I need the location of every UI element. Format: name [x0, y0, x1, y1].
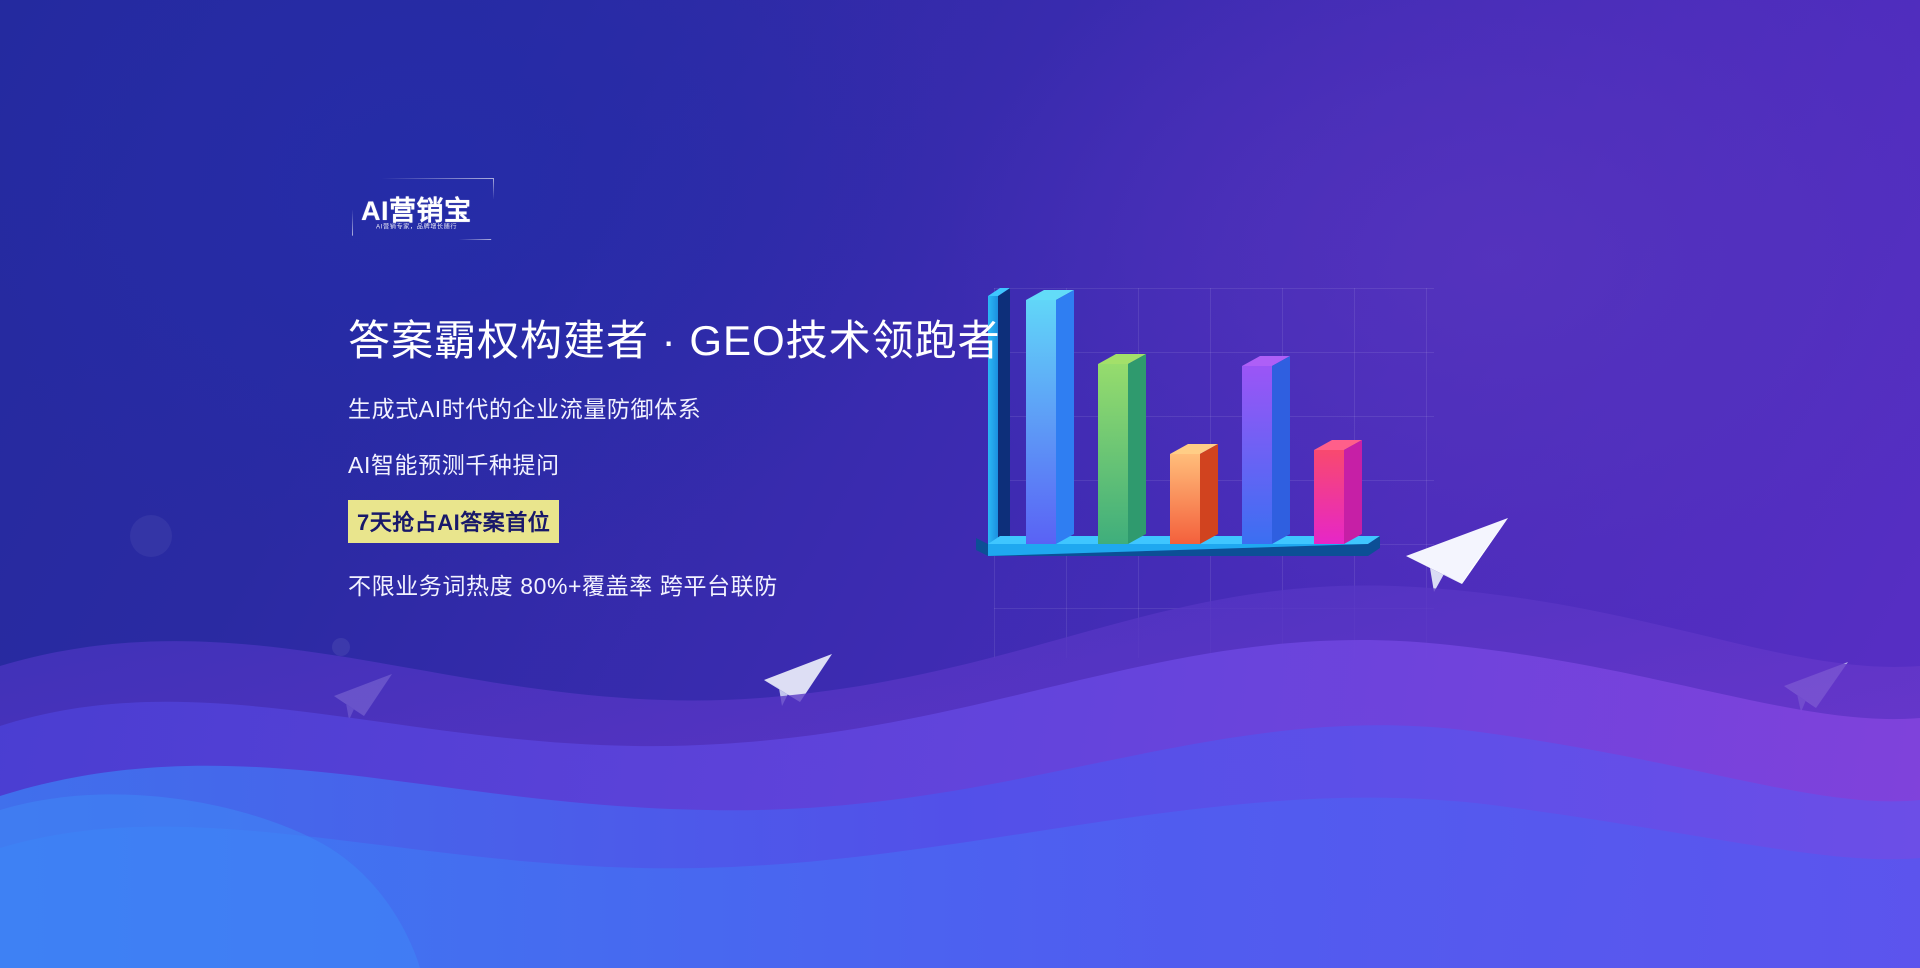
- chart-bar-3: [1170, 444, 1218, 544]
- chart-bar-4: [1242, 356, 1290, 544]
- hero-subline-1: 生成式AI时代的企业流量防御体系: [348, 390, 1108, 424]
- hero-text-block: 答案霸权构建者 · GEO技术领跑者 生成式AI时代的企业流量防御体系 AI智能…: [348, 316, 1108, 601]
- wave-layers: [0, 548, 1920, 968]
- brand-logo[interactable]: AI营销宝 AI营销专家，品牌增长随行: [352, 178, 494, 240]
- chart-bar-5: [1314, 440, 1362, 544]
- hero-highlight-row: 7天抢占AI答案首位: [348, 500, 1108, 543]
- hero-highlight-badge: 7天抢占AI答案首位: [348, 500, 559, 543]
- hero-subline-2: AI智能预测千种提问: [348, 446, 1108, 480]
- hero-banner: AI营销宝 AI营销专家，品牌增长随行 答案霸权构建者 · GEO技术领跑者 生…: [0, 0, 1920, 968]
- logo-tagline: AI营销专家，品牌增长随行: [376, 221, 457, 231]
- hero-subline-4: 不限业务词热度 80%+覆盖率 跨平台联防: [348, 567, 1108, 601]
- hero-headline: 答案霸权构建者 · GEO技术领跑者: [348, 316, 1108, 366]
